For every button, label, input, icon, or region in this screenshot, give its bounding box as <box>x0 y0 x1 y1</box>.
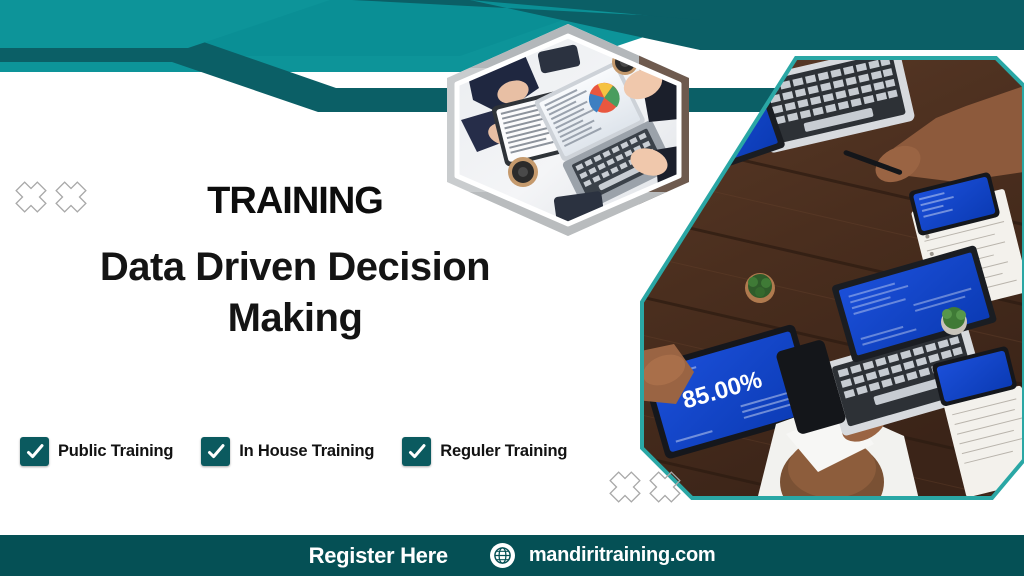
training-type-in-house[interactable]: In House Training <box>201 437 374 466</box>
cross-x-icon <box>648 470 682 504</box>
training-type-public[interactable]: Public Training <box>20 437 173 466</box>
chevron-top-dark-wedge <box>470 0 1024 20</box>
cross-x-icon <box>54 180 88 214</box>
page-kicker: TRAINING <box>0 182 590 220</box>
decoration-crosses-bottom <box>608 470 682 504</box>
website-url: mandiritraining.com <box>529 544 716 567</box>
chevron-stripe-bright-mid <box>0 0 330 48</box>
footer-bar: Register Here mandiritraining.com <box>0 535 1024 576</box>
website-link[interactable]: mandiritraining.com <box>490 543 716 568</box>
training-type-label: In House Training <box>239 442 374 461</box>
decoration-crosses-top-left <box>14 180 88 214</box>
check-icon[interactable] <box>20 437 49 466</box>
training-type-label: Reguler Training <box>440 442 567 461</box>
check-icon[interactable] <box>201 437 230 466</box>
globe-icon <box>490 543 515 568</box>
cross-x-icon <box>608 470 642 504</box>
headline-block: TRAINING Data Driven Decision Making <box>0 182 590 344</box>
cross-x-icon <box>14 180 48 214</box>
training-poster: 85.00% <box>0 0 1024 576</box>
plant-icon-right <box>941 307 967 335</box>
right-photo-cut-mask <box>630 40 810 360</box>
training-type-reguler[interactable]: Reguler Training <box>402 437 567 466</box>
training-type-list: Public Training In House Training Regule… <box>20 437 567 466</box>
register-here-cta[interactable]: Register Here <box>309 543 448 569</box>
page-title: Data Driven Decision Making <box>0 242 590 344</box>
check-icon[interactable] <box>402 437 431 466</box>
training-type-label: Public Training <box>58 442 173 461</box>
